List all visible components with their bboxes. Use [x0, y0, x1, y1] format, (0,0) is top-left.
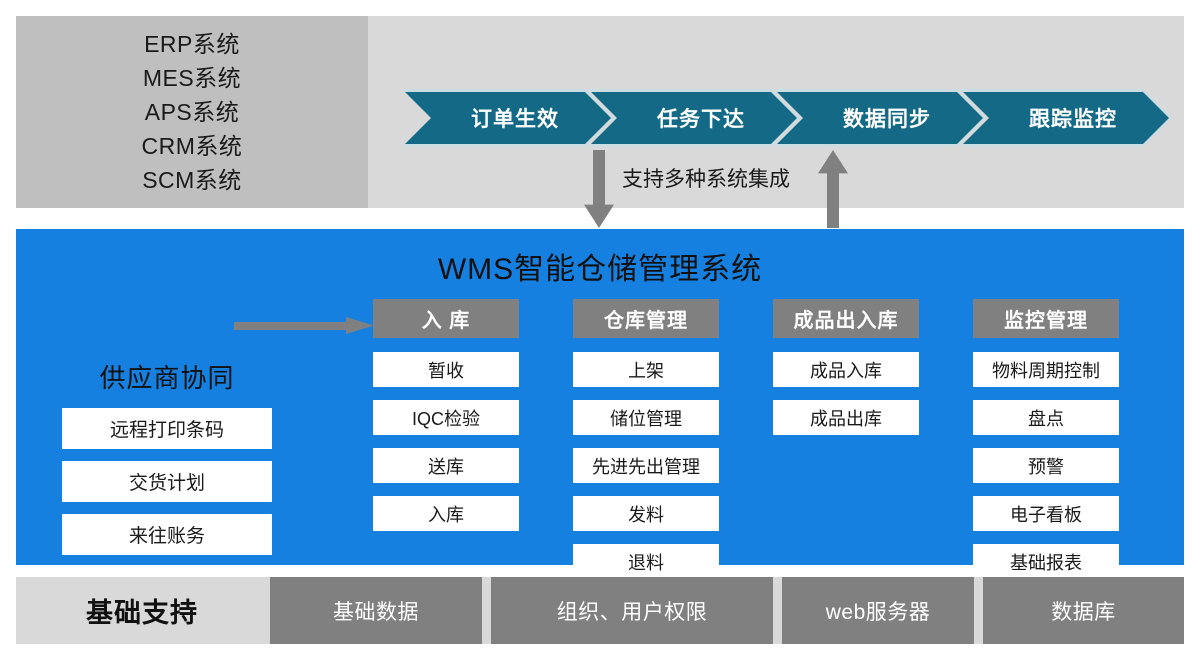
inbound-item-temp-receipt[interactable]: 暂收 [373, 352, 519, 387]
inbound-item-iqc[interactable]: IQC检验 [373, 400, 519, 435]
external-system-item: ERP系统 [144, 27, 240, 61]
foundation-item-basic-data[interactable]: 基础数据 [270, 577, 482, 644]
column-header-warehouse-management[interactable]: 仓库管理 [573, 299, 719, 338]
foundation-item-web-server[interactable]: web服务器 [782, 577, 974, 644]
foundation-item-org-permissions[interactable]: 组织、用户权限 [491, 577, 773, 644]
column-monitoring: 监控管理 物料周期控制 盘点 预警 电子看板 基础报表 [973, 299, 1119, 579]
column-header-finished-goods[interactable]: 成品出入库 [773, 299, 919, 338]
process-step-task-dispatch[interactable]: 任务下达 [591, 92, 797, 144]
inbound-item-deliver-to-warehouse[interactable]: 送库 [373, 448, 519, 483]
warehouse-item-issue-material[interactable]: 发料 [573, 496, 719, 531]
supplier-collaboration-title: 供应商协同 [62, 358, 272, 395]
inbound-item-stock-in[interactable]: 入库 [373, 496, 519, 531]
monitoring-item-alert[interactable]: 预警 [973, 448, 1119, 483]
warehouse-item-return-material[interactable]: 退料 [573, 544, 719, 579]
column-header-monitoring[interactable]: 监控管理 [973, 299, 1119, 338]
wms-architecture-diagram: ERP系统 MES系统 APS系统 CRM系统 SCM系统 订单生效 任务下达 … [0, 0, 1200, 665]
supplier-item-accounts[interactable]: 来往账务 [62, 514, 272, 555]
external-system-item: CRM系统 [142, 129, 243, 163]
integration-label: 支持多种系统集成 [622, 163, 790, 193]
monitoring-item-material-cycle[interactable]: 物料周期控制 [973, 352, 1119, 387]
column-finished-goods: 成品出入库 成品入库 成品出库 [773, 299, 919, 435]
column-warehouse-management: 仓库管理 上架 储位管理 先进先出管理 发料 退料 [573, 299, 719, 579]
finished-goods-item-outbound[interactable]: 成品出库 [773, 400, 919, 435]
finished-goods-item-inbound[interactable]: 成品入库 [773, 352, 919, 387]
warehouse-item-location-management[interactable]: 储位管理 [573, 400, 719, 435]
warehouse-item-fifo[interactable]: 先进先出管理 [573, 448, 719, 483]
column-header-inbound[interactable]: 入 库 [373, 299, 519, 338]
foundation-item-database[interactable]: 数据库 [983, 577, 1184, 644]
arrow-up-icon [818, 150, 848, 228]
monitoring-item-basic-report[interactable]: 基础报表 [973, 544, 1119, 579]
external-system-item: SCM系统 [142, 163, 242, 197]
process-step-order-effective[interactable]: 订单生效 [405, 92, 611, 144]
supplier-item-remote-barcode[interactable]: 远程打印条码 [62, 408, 272, 449]
wms-title: WMS智能仓储管理系统 [16, 244, 1184, 288]
external-systems-box: ERP系统 MES系统 APS系统 CRM系统 SCM系统 [16, 16, 368, 208]
warehouse-item-putaway[interactable]: 上架 [573, 352, 719, 387]
process-step-data-sync[interactable]: 数据同步 [777, 92, 983, 144]
arrow-down-icon [584, 150, 614, 228]
process-flow: 订单生效 任务下达 数据同步 跟踪监控 [402, 92, 1162, 144]
process-step-tracking-monitor[interactable]: 跟踪监控 [963, 92, 1169, 144]
supplier-item-delivery-plan[interactable]: 交货计划 [62, 461, 272, 502]
foundation-title: 基础支持 [16, 577, 268, 644]
supplier-collaboration-column: 远程打印条码 交货计划 来往账务 [62, 396, 272, 555]
external-system-item: APS系统 [145, 95, 240, 129]
column-inbound: 入 库 暂收 IQC检验 送库 入库 [373, 299, 519, 531]
monitoring-item-stocktaking[interactable]: 盘点 [973, 400, 1119, 435]
monitoring-item-e-kanban[interactable]: 电子看板 [973, 496, 1119, 531]
external-system-item: MES系统 [143, 61, 241, 95]
arrow-right-icon [234, 317, 374, 334]
